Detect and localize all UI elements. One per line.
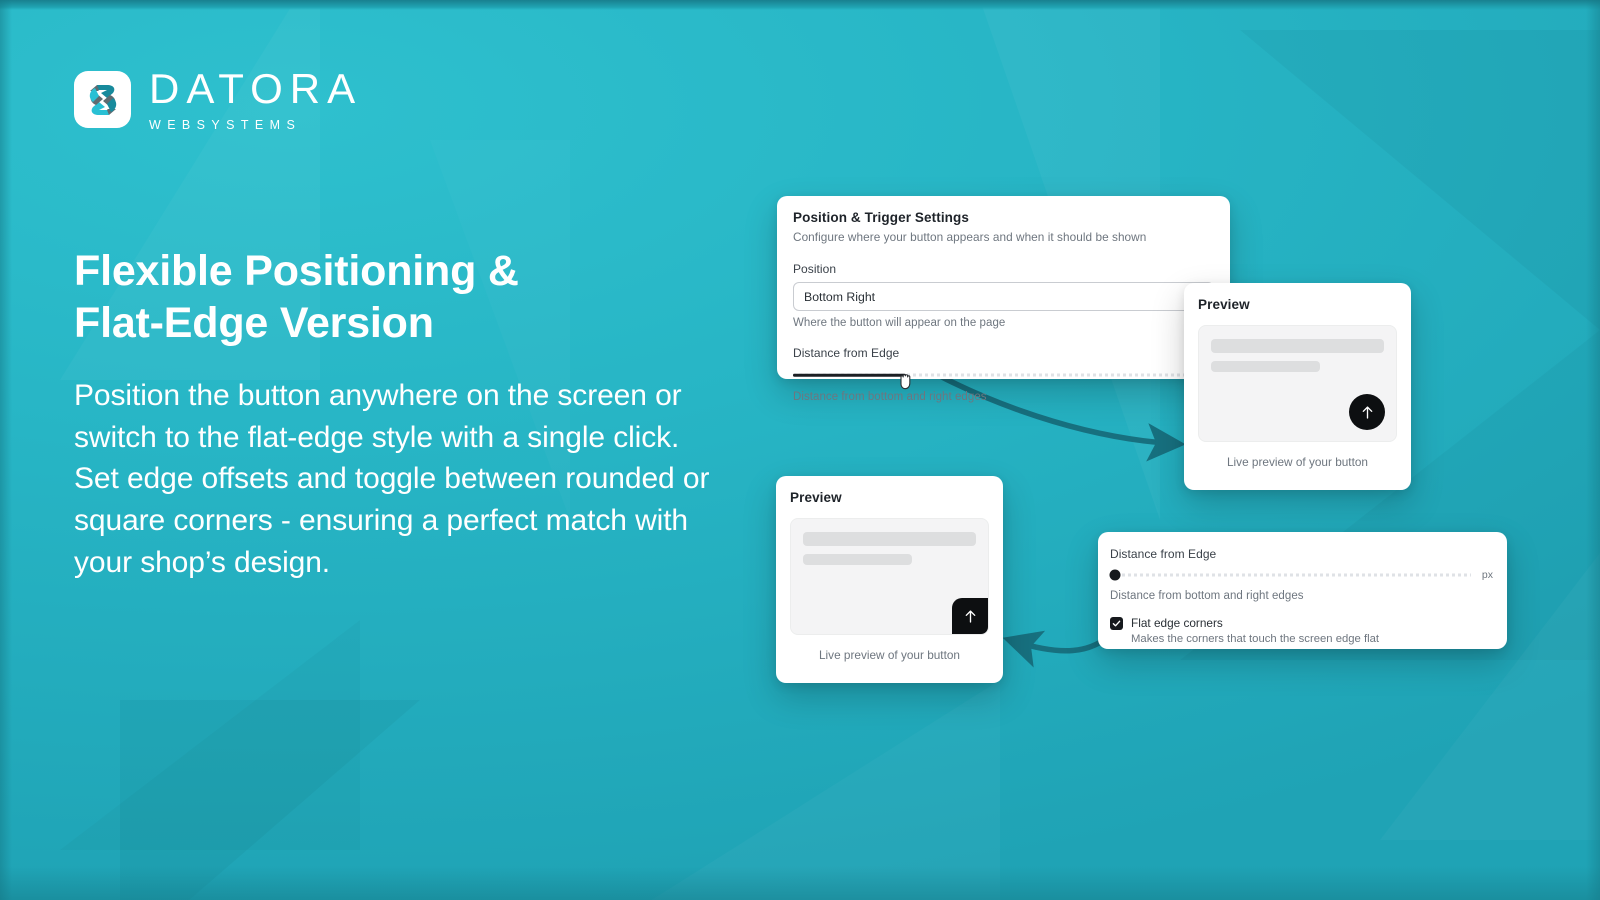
flat-edge-corners-option[interactable]: Flat edge corners bbox=[1110, 616, 1487, 630]
brand-logo: DATORA WEBSYSTEMS bbox=[74, 68, 362, 132]
brand-tagline: WEBSYSTEMS bbox=[149, 119, 362, 132]
arrow-up-icon bbox=[1359, 404, 1376, 421]
card-subtitle: Configure where your button appears and … bbox=[793, 230, 1214, 244]
placeholder-bar bbox=[803, 532, 976, 546]
canvas-bottom-edge bbox=[0, 866, 1600, 900]
logo-wordmark: DATORA WEBSYSTEMS bbox=[149, 68, 362, 132]
datora-s-mark-icon bbox=[83, 80, 123, 120]
position-select-value: Bottom Right bbox=[804, 290, 875, 304]
placeholder-bar bbox=[1211, 361, 1320, 372]
canvas-right-edge bbox=[1586, 0, 1600, 900]
floating-action-button[interactable] bbox=[1349, 394, 1385, 430]
distance-slider[interactable]: px bbox=[1110, 568, 1471, 582]
hero-description: Position the button anywhere on the scre… bbox=[74, 375, 724, 583]
preview-title: Preview bbox=[1198, 297, 1397, 312]
slider-track bbox=[1110, 574, 1471, 577]
floating-action-button[interactable] bbox=[952, 598, 988, 634]
position-select[interactable]: Bottom Right bbox=[793, 282, 1214, 311]
flat-edge-settings-card: Distance from Edge px Distance from bott… bbox=[1098, 532, 1507, 649]
brand-name: DATORA bbox=[149, 68, 362, 110]
flat-edge-corners-help: Makes the corners that touch the screen … bbox=[1131, 633, 1487, 645]
distance-field-help: Distance from bottom and right edges bbox=[1110, 590, 1487, 602]
preview-caption: Live preview of your button bbox=[1198, 455, 1397, 469]
preview-caption: Live preview of your button bbox=[790, 648, 989, 662]
card-title: Position & Trigger Settings bbox=[793, 210, 1214, 225]
headline-line-1: Flexible Positioning & bbox=[74, 245, 734, 297]
canvas-top-edge bbox=[0, 0, 1600, 10]
headline-line-2: Flat-Edge Version bbox=[74, 297, 734, 349]
preview-surface bbox=[790, 518, 989, 635]
slider-handle[interactable] bbox=[1110, 570, 1121, 581]
preview-surface bbox=[1198, 325, 1397, 442]
preview-title: Preview bbox=[790, 490, 989, 505]
page-title: Flexible Positioning & Flat-Edge Version bbox=[74, 245, 734, 350]
position-trigger-settings-card: Position & Trigger Settings Configure wh… bbox=[777, 196, 1230, 379]
flat-edge-corners-checkbox[interactable] bbox=[1110, 617, 1123, 630]
slider-fill bbox=[793, 374, 906, 377]
slider-unit-label: px bbox=[1482, 569, 1493, 581]
slide-canvas: DATORA WEBSYSTEMS Flexible Positioning &… bbox=[0, 0, 1600, 900]
canvas-left-edge bbox=[0, 0, 12, 900]
distance-field-label: Distance from Edge bbox=[1110, 547, 1487, 561]
distance-slider[interactable] bbox=[793, 368, 1214, 382]
arrow-up-icon bbox=[962, 608, 979, 625]
preview-card-round: Preview Live preview of your button bbox=[1184, 283, 1411, 490]
placeholder-bar bbox=[1211, 339, 1384, 353]
preview-card-flat: Preview Live preview of your button bbox=[776, 476, 1003, 683]
distance-field-help: Distance from bottom and right edges bbox=[793, 391, 1214, 403]
distance-field-label: Distance from Edge bbox=[793, 346, 1214, 360]
logo-mark bbox=[74, 71, 131, 128]
flat-edge-corners-label: Flat edge corners bbox=[1131, 616, 1223, 630]
position-field-help: Where the button will appear on the page bbox=[793, 317, 1214, 329]
background-facet bbox=[60, 620, 360, 850]
position-field-label: Position bbox=[793, 262, 1214, 276]
placeholder-bar bbox=[803, 554, 912, 565]
checkmark-icon bbox=[1112, 619, 1121, 628]
